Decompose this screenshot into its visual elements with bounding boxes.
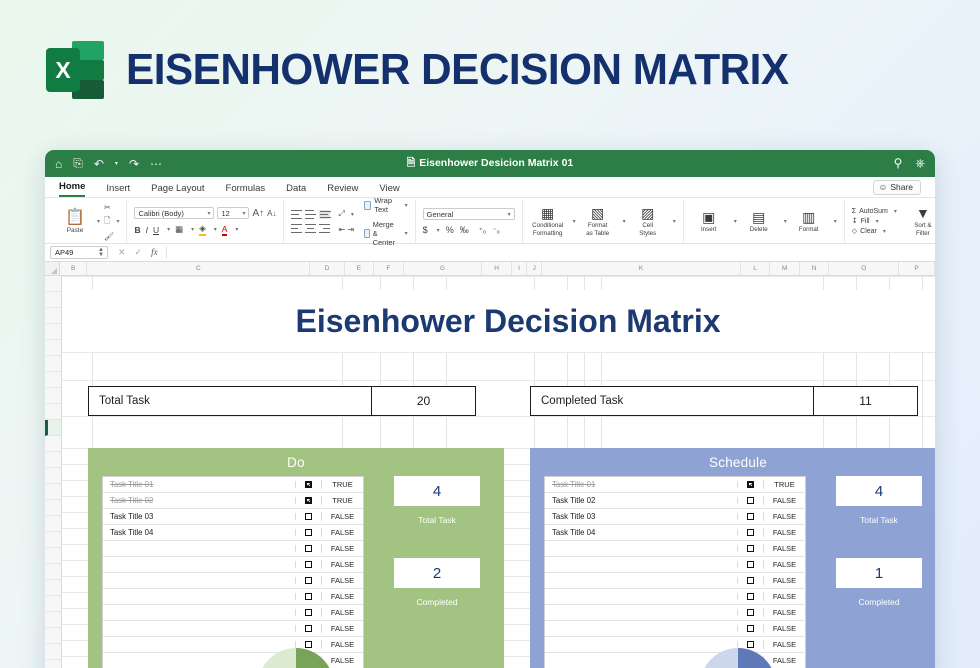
fill-color-dropdown-icon[interactable]: ▾: [214, 226, 217, 233]
tab-formulas[interactable]: Formulas: [226, 183, 266, 197]
checkbox-icon[interactable]: [747, 577, 754, 584]
task-bool-value: TRUE: [763, 480, 805, 489]
excel-logo-letter: X: [46, 48, 80, 92]
task-bool-value: FALSE: [763, 496, 805, 505]
task-checkbox-cell[interactable]: [295, 625, 321, 632]
page-title: EISENHOWER DECISION MATRIX: [126, 45, 789, 95]
excel-logo-icon: X: [46, 41, 104, 99]
task-checkbox-cell[interactable]: [737, 577, 763, 584]
table-row[interactable]: FALSE: [103, 605, 363, 621]
delete-cells-icon: ▤: [752, 210, 765, 225]
percent-button[interactable]: %: [446, 225, 454, 235]
document-title: 🗎Eisenhower Desicion Matrix 01: [45, 155, 935, 173]
column-header-J[interactable]: J: [527, 262, 542, 275]
table-row[interactable]: FALSE: [103, 557, 363, 573]
task-bool-value: FALSE: [763, 640, 805, 649]
checkbox-icon[interactable]: [305, 497, 312, 504]
fill-icon: ↧: [852, 217, 858, 225]
merge-center-label: Merge & Center: [373, 220, 399, 247]
table-row[interactable]: FALSE: [103, 589, 363, 605]
redo-icon[interactable]: ↷: [129, 157, 139, 171]
fill-label: Fill: [861, 218, 870, 225]
task-bool-value: TRUE: [321, 496, 363, 505]
task-checkbox-cell[interactable]: [737, 497, 763, 504]
cut-button[interactable]: ✂: [104, 203, 119, 212]
table-row[interactable]: FALSE: [545, 589, 805, 605]
sf-line1: Sort &: [914, 222, 931, 229]
checkbox-icon[interactable]: [305, 481, 312, 488]
ribbon-group-clipboard: 📋 Paste ▾ ✂ 🗋▾ 🖌: [53, 200, 127, 243]
column-header-P[interactable]: P: [899, 262, 935, 275]
tab-insert[interactable]: Insert: [106, 183, 130, 197]
column-header-G[interactable]: G: [404, 262, 483, 275]
quick-access-toolbar[interactable]: ⌂ ⎘ ↶ ▾ ↷ ⋯: [55, 156, 162, 171]
page-banner: X EISENHOWER DECISION MATRIX: [0, 0, 980, 140]
quadrant-schedule: Schedule Task Title 01TRUE Task Title 02…: [530, 448, 935, 668]
ribbon: 📋 Paste ▾ ✂ 🗋▾ 🖌 Calibri (Body)▾ 12▾: [45, 198, 935, 244]
cf-line1: Conditional: [532, 222, 563, 229]
column-header-H[interactable]: H: [482, 262, 512, 275]
fill-button[interactable]: ↧ Fill▾: [852, 217, 897, 225]
checkbox-icon[interactable]: [305, 561, 312, 568]
format-label: Format: [799, 226, 819, 234]
font-size-value: 12: [221, 209, 229, 218]
task-checkbox-cell[interactable]: [737, 609, 763, 616]
fat-line2: as Table: [586, 230, 609, 237]
task-checkbox-cell[interactable]: [295, 529, 321, 536]
home-icon[interactable]: ⌂: [55, 157, 62, 171]
row-header[interactable]: [45, 308, 61, 324]
row-header-selected[interactable]: [45, 420, 61, 436]
underline-button[interactable]: U: [153, 225, 159, 235]
cs-line1: Cell: [642, 222, 653, 229]
task-bool-value: FALSE: [321, 640, 363, 649]
column-header-O[interactable]: O: [829, 262, 899, 275]
task-checkbox-cell[interactable]: [295, 641, 321, 648]
schedule-completed-value: 1: [836, 558, 922, 588]
task-checkbox-cell[interactable]: [295, 481, 321, 488]
enter-icon[interactable]: ✓: [135, 247, 143, 258]
row-header[interactable]: [45, 468, 61, 484]
font-color-button[interactable]: A: [222, 224, 228, 236]
task-bool-value: FALSE: [321, 528, 363, 537]
undo-dropdown-icon[interactable]: ▾: [115, 160, 118, 167]
fill-color-icon[interactable]: ◈: [199, 223, 206, 236]
delete-dropdown-icon[interactable]: ▾: [784, 218, 787, 225]
conditional-formatting-icon: ▦: [541, 206, 554, 221]
cell-styles-dropdown-icon[interactable]: ▾: [673, 218, 676, 225]
do-completed-label: Completed: [416, 597, 457, 607]
share-button-label: Share: [890, 182, 913, 192]
task-title[interactable]: Task Title 03: [545, 512, 737, 521]
row-header[interactable]: [45, 388, 61, 404]
task-bool-value: FALSE: [763, 560, 805, 569]
checkbox-icon[interactable]: [747, 545, 754, 552]
row-header[interactable]: [45, 340, 61, 356]
share-button[interactable]: ☺ Share: [873, 180, 921, 195]
task-title[interactable]: Task Title 03: [103, 512, 295, 521]
indent-buttons[interactable]: ⇤ ⇥: [338, 225, 354, 234]
checkbox-icon[interactable]: [305, 593, 312, 600]
ribbon-group-cells: ▣ Insert ▾ ▤ Delete ▾ ▥ Format ▾: [684, 200, 845, 243]
sheet-area[interactable]: Eisenhower Decision Matrix Total Task 20…: [62, 276, 935, 668]
table-row[interactable]: FALSE: [545, 557, 805, 573]
sheet-title: Eisenhower Decision Matrix: [87, 290, 929, 352]
quadrant-schedule-task-table: Task Title 01TRUE Task Title 02FALSE Tas…: [544, 476, 806, 668]
checkbox-icon[interactable]: [747, 481, 754, 488]
column-header-E[interactable]: E: [345, 262, 375, 275]
column-header-K[interactable]: K: [542, 262, 740, 275]
tab-data[interactable]: Data: [286, 183, 306, 197]
task-checkbox-cell[interactable]: [737, 561, 763, 568]
task-bool-value: FALSE: [321, 576, 363, 585]
formula-bar: AP49 ▲▼ ✕ ✓ fx: [45, 244, 935, 262]
ribbon-group-editing: Σ AutoSum▾ ↧ Fill▾ ◇ Clear▾ ▼ Sort &Filt…: [845, 200, 935, 243]
format-as-table-dropdown-icon[interactable]: ▾: [623, 218, 626, 225]
copy-button[interactable]: 🗋▾: [104, 215, 119, 229]
spreadsheet-file-icon: 🗎: [407, 157, 415, 169]
task-checkbox-cell[interactable]: [295, 513, 321, 520]
completed-task-value: 11: [813, 387, 917, 415]
task-checkbox-cell[interactable]: [295, 561, 321, 568]
task-bool-value: FALSE: [321, 592, 363, 601]
font-color-dropdown-icon[interactable]: ▾: [235, 226, 238, 233]
checkbox-icon[interactable]: [747, 609, 754, 616]
task-bool-value: FALSE: [321, 512, 363, 521]
row-header[interactable]: [45, 596, 61, 612]
row-header[interactable]: [45, 436, 61, 452]
row-header[interactable]: [45, 484, 61, 500]
checkbox-icon[interactable]: [747, 561, 754, 568]
borders-dropdown-icon[interactable]: ▾: [191, 226, 194, 233]
align-top-button[interactable]: [291, 210, 302, 219]
row-header[interactable]: [45, 516, 61, 532]
more-commands-icon[interactable]: ⋯: [150, 157, 162, 171]
row-header[interactable]: [45, 356, 61, 372]
column-header-M[interactable]: M: [770, 262, 800, 275]
number-format-select[interactable]: General▾: [423, 208, 515, 220]
task-bool-value: FALSE: [321, 608, 363, 617]
task-checkbox-cell[interactable]: [295, 609, 321, 616]
row-header[interactable]: [45, 612, 61, 628]
table-row[interactable]: FALSE: [103, 621, 363, 637]
conditional-formatting-dropdown-icon[interactable]: ▾: [573, 218, 576, 225]
task-bool-value: FALSE: [763, 608, 805, 617]
underline-dropdown-icon[interactable]: ▾: [167, 226, 170, 233]
table-row[interactable]: Task Title 02TRUE: [103, 493, 363, 509]
row-header[interactable]: [45, 404, 61, 420]
task-title[interactable]: Task Title 02: [103, 496, 295, 505]
task-bool-value: FALSE: [763, 544, 805, 553]
table-row[interactable]: FALSE: [545, 573, 805, 589]
clipboard-icon: 📋: [65, 210, 85, 226]
task-checkbox-cell[interactable]: [737, 545, 763, 552]
insert-dropdown-icon[interactable]: ▾: [734, 218, 737, 225]
paste-dropdown-icon[interactable]: ▾: [97, 218, 100, 225]
table-row[interactable]: FALSE: [545, 637, 805, 653]
align-left-button[interactable]: [291, 224, 302, 233]
table-row[interactable]: Task Title 01TRUE: [545, 477, 805, 493]
completed-task-box: Completed Task 11: [530, 386, 918, 416]
merge-center-button[interactable]: Merge & Center▾: [364, 220, 408, 247]
row-header[interactable]: [45, 292, 61, 308]
quadrant-do-task-table: Task Title 01TRUE Task Title 02TRUE Task…: [102, 476, 364, 668]
task-bool-value: FALSE: [321, 544, 363, 553]
do-total-task-value: 4: [394, 476, 480, 506]
column-header-F[interactable]: F: [374, 262, 404, 275]
row-header[interactable]: [45, 324, 61, 340]
table-row[interactable]: FALSE: [545, 541, 805, 557]
checkbox-icon[interactable]: [305, 609, 312, 616]
increase-decimal-icon[interactable]: ⁺₀: [479, 226, 487, 235]
table-row[interactable]: FALSE: [545, 605, 805, 621]
task-checkbox-cell[interactable]: [737, 529, 763, 536]
table-row[interactable]: Task Title 04FALSE: [545, 525, 805, 541]
align-middle-button[interactable]: [305, 210, 316, 219]
name-box-value: AP49: [55, 248, 73, 257]
sf-line2: Filter: [916, 230, 930, 237]
checkbox-icon[interactable]: [747, 529, 754, 536]
task-checkbox-cell[interactable]: [295, 545, 321, 552]
insert-cells-icon: ▣: [702, 210, 715, 225]
cf-line2: Formatting: [533, 230, 563, 237]
font-name-value: Calibri (Body): [138, 209, 183, 218]
delete-cells-button[interactable]: ▤ Delete: [741, 210, 777, 234]
task-bool-value: FALSE: [763, 624, 805, 633]
task-checkbox-cell[interactable]: [737, 625, 763, 632]
italic-button[interactable]: I: [146, 225, 148, 235]
task-title[interactable]: Task Title 01: [103, 480, 295, 489]
table-row[interactable]: Task Title 03FALSE: [103, 509, 363, 525]
task-title[interactable]: Task Title 02: [545, 496, 737, 505]
quadrant-schedule-kpis: 4 Total Task 1 Completed: [824, 476, 934, 668]
total-task-value: 20: [371, 387, 475, 415]
row-header[interactable]: [45, 532, 61, 548]
task-title[interactable]: Task Title 04: [545, 528, 737, 537]
total-task-label: Total Task: [89, 395, 150, 407]
sort-filter-icon: ▼: [916, 206, 930, 221]
conditional-formatting-button[interactable]: ▦ ConditionalFormatting: [530, 206, 566, 237]
table-row[interactable]: FALSE: [103, 637, 363, 653]
merge-cells-icon: [364, 229, 369, 238]
font-size-input[interactable]: 12▾: [217, 207, 249, 219]
do-total-task-label: Total Task: [418, 515, 456, 525]
shrink-font-button[interactable]: A↓: [267, 209, 276, 218]
task-bool-value: FALSE: [763, 576, 805, 585]
column-header-C[interactable]: C: [87, 262, 310, 275]
task-checkbox-cell[interactable]: [295, 593, 321, 600]
checkbox-icon[interactable]: [305, 513, 312, 520]
quadrant-do-header: Do: [88, 448, 504, 476]
clear-button[interactable]: ◇ Clear▾: [852, 227, 897, 235]
task-checkbox-cell[interactable]: [737, 641, 763, 648]
window-titlebar: ⌂ ⎘ ↶ ▾ ↷ ⋯ 🗎Eisenhower Desicion Matrix …: [45, 150, 935, 177]
task-title[interactable]: Task Title 01: [545, 480, 737, 489]
task-bool-value: FALSE: [763, 592, 805, 601]
align-right-button[interactable]: [319, 224, 330, 233]
bold-button[interactable]: B: [134, 225, 140, 235]
table-row[interactable]: FALSE: [103, 541, 363, 557]
task-bool-value: TRUE: [321, 480, 363, 489]
cs-line2: Styles: [639, 230, 656, 237]
row-header[interactable]: [45, 548, 61, 564]
table-row[interactable]: Task Title 01TRUE: [103, 477, 363, 493]
total-task-box: Total Task 20: [88, 386, 476, 416]
format-cells-icon: ▥: [802, 210, 815, 225]
decrease-decimal-icon[interactable]: ⁻₀: [492, 226, 500, 235]
table-row[interactable]: Task Title 03FALSE: [545, 509, 805, 525]
row-header[interactable]: [45, 276, 61, 292]
column-header-B[interactable]: B: [60, 262, 87, 275]
comma-button[interactable]: ‰: [460, 225, 469, 235]
checkbox-icon[interactable]: [305, 529, 312, 536]
row-header[interactable]: [45, 628, 61, 644]
ribbon-group-alignment: ⤢▾ ⇤ ⇥ Wrap Text▾ Merge & Center▾: [284, 200, 415, 243]
task-checkbox-cell[interactable]: [295, 497, 321, 504]
checkbox-icon[interactable]: [747, 641, 754, 648]
align-bottom-button[interactable]: [319, 210, 330, 219]
checkbox-icon[interactable]: [747, 513, 754, 520]
grow-font-button[interactable]: A↑: [252, 208, 264, 219]
tab-page-layout[interactable]: Page Layout: [151, 183, 204, 197]
number-format-value: General: [427, 210, 454, 219]
sort-filter-button[interactable]: ▼ Sort &Filter: [905, 206, 935, 237]
paste-label: Paste: [67, 227, 84, 234]
cell-styles-icon: ▨: [641, 206, 654, 221]
quadrant-schedule-header: Schedule: [530, 448, 935, 476]
format-as-table-button[interactable]: ▧ Formatas Table: [580, 206, 616, 237]
text-orientation-button[interactable]: ⤢▾: [338, 209, 354, 219]
task-checkbox-cell[interactable]: [295, 577, 321, 584]
row-header[interactable]: [45, 372, 61, 388]
table-row[interactable]: FALSE: [545, 621, 805, 637]
row-header[interactable]: [45, 500, 61, 516]
undo-icon[interactable]: ↶: [94, 157, 104, 171]
task-checkbox-cell[interactable]: [737, 481, 763, 488]
ribbon-group-styles: ▦ ConditionalFormatting ▾ ▧ Formatas Tab…: [523, 200, 684, 243]
schedule-total-task-label: Total Task: [860, 515, 898, 525]
currency-button[interactable]: $: [423, 225, 428, 235]
save-icon[interactable]: ⎘: [73, 156, 83, 171]
table-row[interactable]: Task Title 04FALSE: [103, 525, 363, 541]
do-completed-value: 2: [394, 558, 480, 588]
completed-task-label: Completed Task: [531, 395, 623, 407]
checkbox-icon[interactable]: [747, 497, 754, 504]
quadrant-do: Do Task Title 01TRUE Task Title 02TRUE T…: [88, 448, 504, 668]
insert-function-icon[interactable]: fx: [151, 247, 158, 258]
collaborate-icon[interactable]: ⎈: [915, 156, 925, 171]
autosum-label: AutoSum: [859, 208, 888, 215]
name-box[interactable]: AP49 ▲▼: [50, 246, 108, 259]
wrap-text-button[interactable]: Wrap Text▾: [364, 196, 408, 214]
task-checkbox-cell[interactable]: [737, 593, 763, 600]
format-cells-button[interactable]: ▥ Format: [791, 210, 827, 234]
sigma-icon: Σ: [852, 208, 856, 215]
task-checkbox-cell[interactable]: [737, 513, 763, 520]
column-header-N[interactable]: N: [800, 262, 830, 275]
ribbon-tab-bar: Home Insert Page Layout Formulas Data Re…: [45, 177, 935, 198]
share-person-icon: ☺: [879, 182, 888, 192]
format-painter-button[interactable]: 🖌: [104, 232, 119, 241]
currency-dropdown-icon[interactable]: ▾: [437, 227, 440, 234]
tab-home[interactable]: Home: [59, 181, 85, 197]
table-row[interactable]: Task Title 02FALSE: [545, 493, 805, 509]
autosum-button[interactable]: Σ AutoSum▾: [852, 208, 897, 215]
task-bool-value: FALSE: [321, 624, 363, 633]
align-center-button[interactable]: [305, 224, 316, 233]
format-as-table-icon: ▧: [591, 206, 604, 221]
column-headers: B C D E F G H I J K L M N O P: [45, 262, 935, 276]
document-title-text: Eisenhower Desicion Matrix 01: [419, 157, 573, 169]
excel-window: ⌂ ⎘ ↶ ▾ ↷ ⋯ 🗎Eisenhower Desicion Matrix …: [45, 150, 935, 668]
checkbox-icon[interactable]: [305, 577, 312, 584]
clear-label: Clear: [860, 228, 877, 235]
formula-input[interactable]: [166, 246, 935, 259]
row-header[interactable]: [45, 452, 61, 468]
checkbox-icon[interactable]: [305, 641, 312, 648]
format-dropdown-icon[interactable]: ▾: [834, 218, 837, 225]
grid-body: Eisenhower Decision Matrix Total Task 20…: [45, 276, 935, 668]
font-name-input[interactable]: Calibri (Body)▾: [134, 207, 214, 219]
row-header[interactable]: [45, 660, 61, 668]
cancel-icon[interactable]: ✕: [118, 247, 126, 258]
quadrant-do-kpis: 4 Total Task 2 Completed: [382, 476, 492, 668]
spreadsheet-grid: B C D E F G H I J K L M N O P: [45, 262, 935, 668]
row-headers: [45, 276, 62, 668]
wrap-text-icon: [364, 201, 371, 210]
task-title[interactable]: Task Title 04: [103, 528, 295, 537]
delete-label: Delete: [750, 226, 768, 234]
eraser-icon: ◇: [852, 227, 857, 235]
cell-styles-button[interactable]: ▨ CellStyles: [630, 206, 666, 237]
checkbox-icon[interactable]: [747, 625, 754, 632]
insert-label: Insert: [701, 226, 716, 234]
search-icon[interactable]: ⚲: [894, 156, 903, 171]
task-bool-value: FALSE: [763, 528, 805, 537]
checkbox-icon[interactable]: [305, 625, 312, 632]
fat-line1: Format: [588, 222, 608, 229]
wrap-text-label: Wrap Text: [374, 196, 398, 214]
borders-icon[interactable]: ▦: [175, 224, 183, 235]
column-header-I[interactable]: I: [512, 262, 527, 275]
ribbon-group-number: General▾ $ ▾ % ‰ ⁺₀ ⁻₀: [416, 200, 523, 243]
column-header-D[interactable]: D: [310, 262, 344, 275]
schedule-completed-label: Completed: [858, 597, 899, 607]
insert-cells-button[interactable]: ▣ Insert: [691, 210, 727, 234]
schedule-total-task-value: 4: [836, 476, 922, 506]
select-all-corner[interactable]: [45, 262, 60, 275]
name-box-spinner-icon[interactable]: ▲▼: [98, 248, 104, 258]
paste-button[interactable]: 📋 Paste: [60, 210, 90, 234]
tab-view[interactable]: View: [379, 183, 399, 197]
tab-review[interactable]: Review: [327, 183, 358, 197]
checkbox-icon[interactable]: [305, 545, 312, 552]
row-header[interactable]: [45, 580, 61, 596]
task-bool-value: FALSE: [763, 512, 805, 521]
column-header-L[interactable]: L: [741, 262, 771, 275]
ribbon-group-font: Calibri (Body)▾ 12▾ A↑ A↓ B I U ▾ ▦ ▾ ◈: [127, 200, 284, 243]
row-header[interactable]: [45, 564, 61, 580]
row-header[interactable]: [45, 644, 61, 660]
table-row[interactable]: FALSE: [103, 573, 363, 589]
checkbox-icon[interactable]: [747, 593, 754, 600]
task-bool-value: FALSE: [321, 560, 363, 569]
